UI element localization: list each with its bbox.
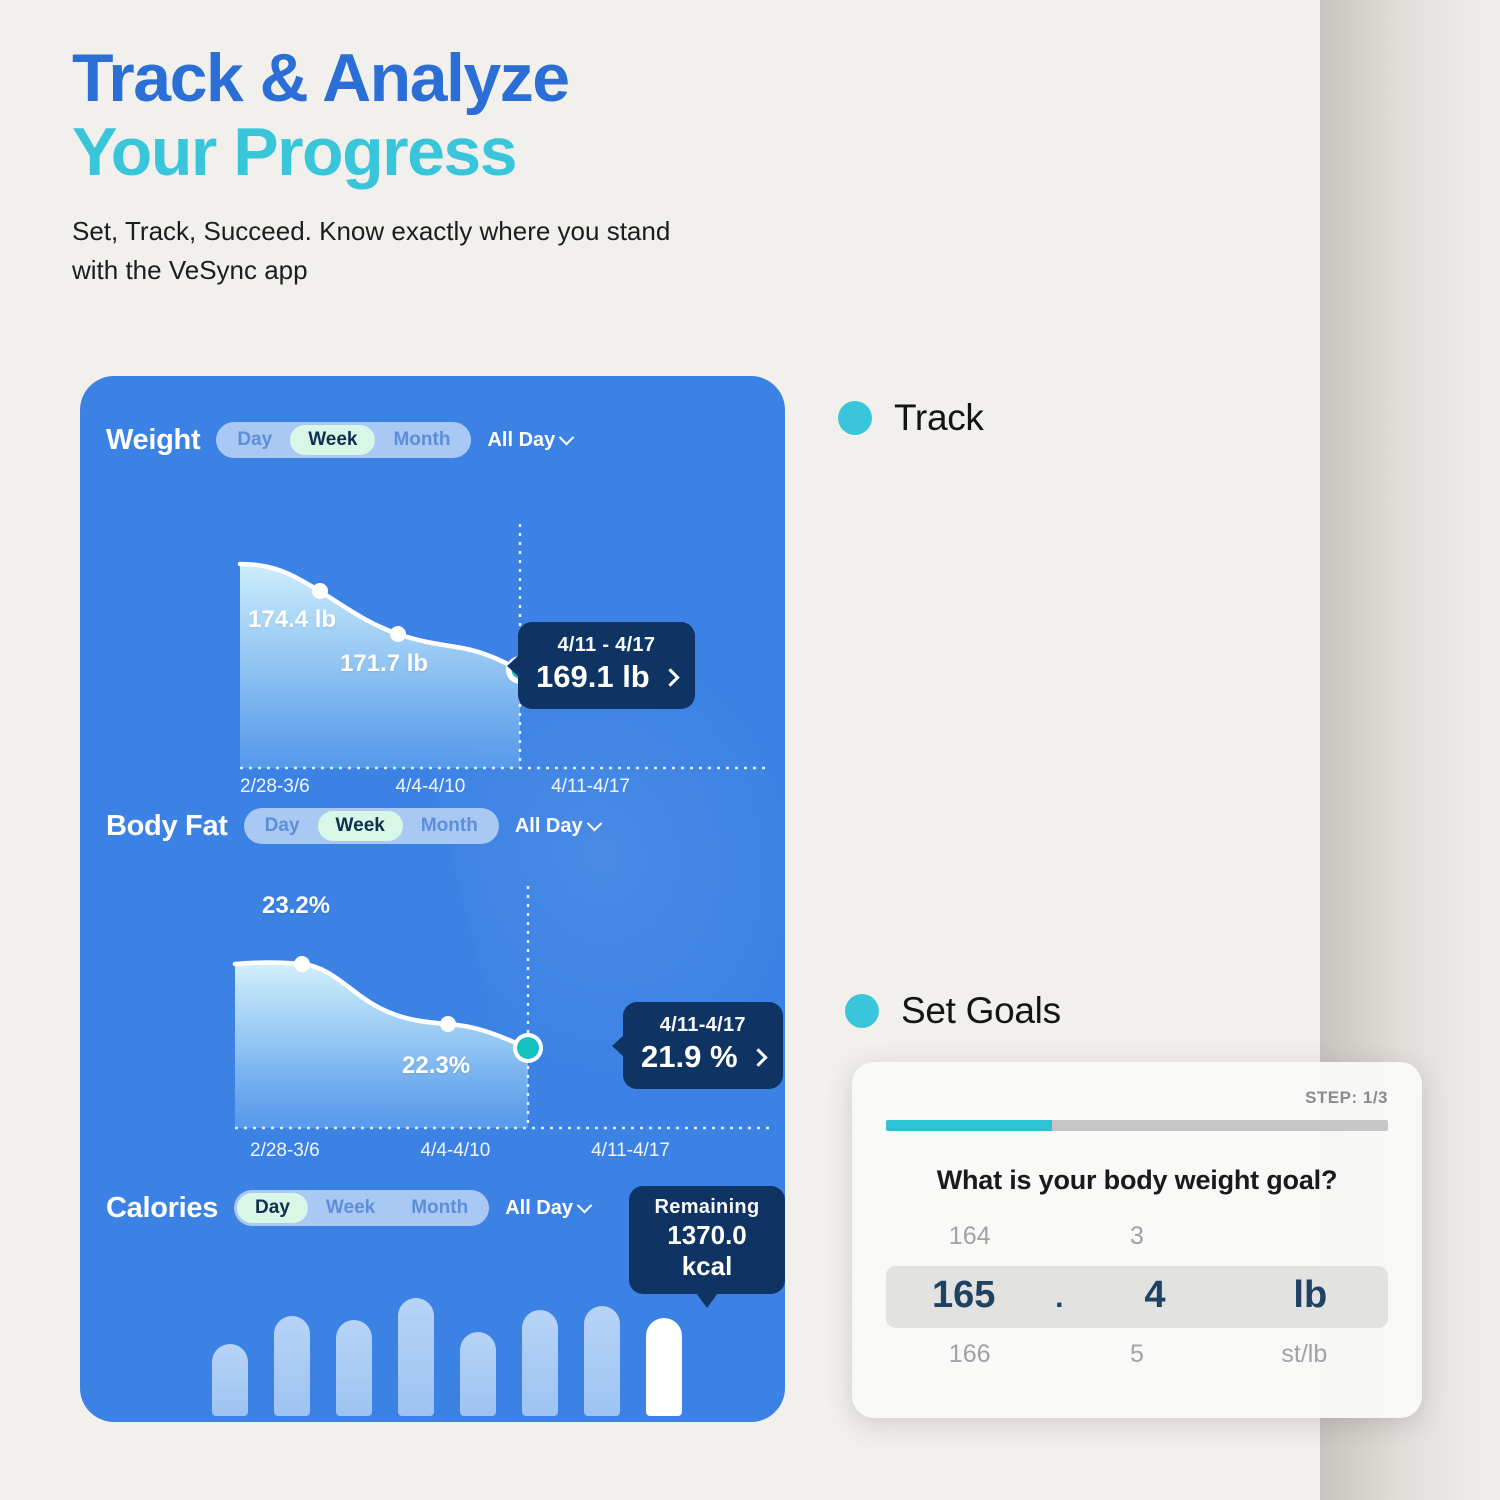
picker-selected-decimal[interactable]: 4 bbox=[1077, 1274, 1232, 1317]
step-indicator: STEP: 1/3 bbox=[886, 1088, 1388, 1108]
body-fat-point-3[interactable] bbox=[517, 1037, 539, 1059]
progress-bar-fill bbox=[886, 1120, 1052, 1131]
weight-tick-1: 2/28-3/6 bbox=[240, 776, 310, 798]
chevron-right-icon[interactable] bbox=[661, 668, 679, 686]
body-fat-point-2[interactable] bbox=[440, 1016, 456, 1032]
body-fat-tooltip[interactable]: 4/11-4/17 21.9 % bbox=[623, 1002, 783, 1089]
calories-bar-8-highlight[interactable] bbox=[646, 1318, 682, 1416]
weight-tooltip-range: 4/11 - 4/17 bbox=[536, 634, 677, 657]
goal-setup-card: STEP: 1/3 What is your body weight goal?… bbox=[852, 1062, 1422, 1418]
goal-question-text: What is your body weight goal? bbox=[886, 1165, 1388, 1196]
picker-above-decimal[interactable]: 3 bbox=[1053, 1222, 1220, 1251]
body-fat-label-1: 23.2% bbox=[262, 892, 330, 920]
progress-bar-track bbox=[886, 1120, 1388, 1131]
weight-goal-picker[interactable]: 164 3 165 . 4 lb 166 5 st/lb bbox=[886, 1222, 1388, 1372]
weight-tick-3: 4/11-4/17 bbox=[551, 776, 630, 798]
tooltip-pointer-icon bbox=[507, 655, 519, 677]
picker-below-decimal[interactable]: 5 bbox=[1053, 1340, 1220, 1369]
body-fat-toggle-week[interactable]: Week bbox=[318, 811, 403, 841]
picker-selected-whole[interactable]: 165 bbox=[886, 1274, 1041, 1317]
weight-allday-dropdown[interactable]: All Day bbox=[487, 429, 572, 452]
picker-row-above[interactable]: 164 3 bbox=[886, 1222, 1388, 1251]
body-fat-tick-1: 2/28-3/6 bbox=[250, 1140, 320, 1162]
weight-allday-label: All Day bbox=[487, 429, 555, 452]
teal-dot-icon bbox=[838, 401, 872, 435]
chevron-down-icon bbox=[559, 429, 575, 445]
body-fat-area-fill bbox=[235, 963, 528, 1129]
picker-above-unit[interactable] bbox=[1221, 1222, 1388, 1251]
calories-bar-7[interactable] bbox=[584, 1306, 620, 1416]
headline-subtitle: Set, Track, Succeed. Know exactly where … bbox=[72, 212, 672, 289]
callout-set-goals-label: Set Goals bbox=[901, 990, 1061, 1032]
calories-toggle-day[interactable]: Day bbox=[237, 1193, 308, 1223]
calories-allday-dropdown[interactable]: All Day bbox=[505, 1197, 590, 1220]
calories-allday-label: All Day bbox=[505, 1197, 573, 1220]
body-fat-title: Body Fat bbox=[106, 810, 228, 843]
teal-dot-icon bbox=[845, 994, 879, 1028]
weight-tooltip[interactable]: 4/11 - 4/17 169.1 lb bbox=[518, 622, 695, 709]
body-fat-tooltip-range: 4/11-4/17 bbox=[641, 1014, 765, 1037]
calories-bar-4[interactable] bbox=[398, 1298, 434, 1416]
body-fat-allday-dropdown[interactable]: All Day bbox=[515, 815, 600, 838]
body-fat-point-1[interactable] bbox=[294, 956, 310, 972]
body-fat-tooltip-value-row: 21.9 % bbox=[641, 1039, 765, 1075]
chevron-down-icon bbox=[586, 815, 602, 831]
weight-label-1: 174.4 lb bbox=[248, 606, 336, 634]
body-fat-tooltip-value: 21.9 % bbox=[641, 1039, 738, 1075]
weight-title: Weight bbox=[106, 424, 200, 457]
metrics-panel: Weight Day Week Month All Day bbox=[80, 376, 785, 1422]
picker-row-below[interactable]: 166 5 st/lb bbox=[886, 1340, 1388, 1369]
weight-header: Weight Day Week Month All Day bbox=[80, 422, 785, 458]
picker-selected-unit[interactable]: lb bbox=[1233, 1274, 1388, 1317]
body-fat-toggle-month[interactable]: Month bbox=[403, 811, 496, 841]
weight-toggle-day[interactable]: Day bbox=[219, 425, 290, 455]
calories-bar-1[interactable] bbox=[212, 1344, 248, 1416]
picker-decimal-separator: . bbox=[1041, 1281, 1077, 1315]
picker-above-whole[interactable]: 164 bbox=[886, 1222, 1053, 1251]
weight-toggle-month[interactable]: Month bbox=[375, 425, 468, 455]
body-fat-range-toggle[interactable]: Day Week Month bbox=[244, 808, 499, 844]
picker-below-unit[interactable]: st/lb bbox=[1221, 1340, 1388, 1369]
calories-range-toggle[interactable]: Day Week Month bbox=[234, 1190, 489, 1226]
calories-bar-5[interactable] bbox=[460, 1332, 496, 1416]
weight-tooltip-value-row: 169.1 lb bbox=[536, 659, 677, 695]
chevron-down-icon bbox=[577, 1197, 593, 1213]
weight-point-1[interactable] bbox=[312, 583, 328, 599]
weight-point-2[interactable] bbox=[390, 626, 406, 642]
callout-set-goals: Set Goals bbox=[845, 990, 1061, 1032]
calories-toggle-week[interactable]: Week bbox=[308, 1193, 393, 1223]
calories-bar-6[interactable] bbox=[522, 1310, 558, 1416]
calories-tooltip-caption: Remaining bbox=[645, 1196, 769, 1219]
body-fat-header: Body Fat Day Week Month All Day bbox=[80, 808, 785, 844]
body-fat-label-2: 22.3% bbox=[402, 1052, 470, 1080]
callout-track: Track bbox=[838, 397, 984, 439]
body-fat-allday-label: All Day bbox=[515, 815, 583, 838]
weight-toggle-week[interactable]: Week bbox=[290, 425, 375, 455]
body-fat-tick-2: 4/4-4/10 bbox=[421, 1140, 491, 1162]
weight-label-2: 171.7 lb bbox=[340, 650, 428, 678]
calories-bar-2[interactable] bbox=[274, 1316, 310, 1416]
weight-x-axis: 2/28-3/6 4/4-4/10 4/11-4/17 bbox=[240, 776, 630, 798]
headline-line-2: Your Progress bbox=[72, 114, 772, 190]
section-weight: Weight Day Week Month All Day bbox=[80, 422, 785, 458]
chevron-right-icon[interactable] bbox=[749, 1048, 767, 1066]
callout-track-label: Track bbox=[894, 397, 984, 439]
weight-tooltip-value: 169.1 lb bbox=[536, 659, 650, 695]
tooltip-pointer-icon bbox=[612, 1035, 624, 1057]
picker-row-selected[interactable]: 165 . 4 lb bbox=[886, 1274, 1388, 1317]
weight-range-toggle[interactable]: Day Week Month bbox=[216, 422, 471, 458]
body-fat-tick-3: 4/11-4/17 bbox=[591, 1140, 670, 1162]
headline-block: Track & Analyze Your Progress Set, Track… bbox=[72, 42, 772, 289]
picker-below-whole[interactable]: 166 bbox=[886, 1340, 1053, 1369]
calories-title: Calories bbox=[106, 1192, 218, 1225]
body-fat-x-axis: 2/28-3/6 4/4-4/10 4/11-4/17 bbox=[250, 1140, 670, 1162]
weight-tick-2: 4/4-4/10 bbox=[396, 776, 466, 798]
headline-line-1: Track & Analyze bbox=[72, 42, 772, 114]
body-fat-toggle-day[interactable]: Day bbox=[247, 811, 318, 841]
calories-bar-chart bbox=[212, 1256, 722, 1416]
section-body-fat: Body Fat Day Week Month All Day bbox=[80, 808, 785, 844]
calories-bar-3[interactable] bbox=[336, 1320, 372, 1416]
calories-toggle-month[interactable]: Month bbox=[393, 1193, 486, 1223]
